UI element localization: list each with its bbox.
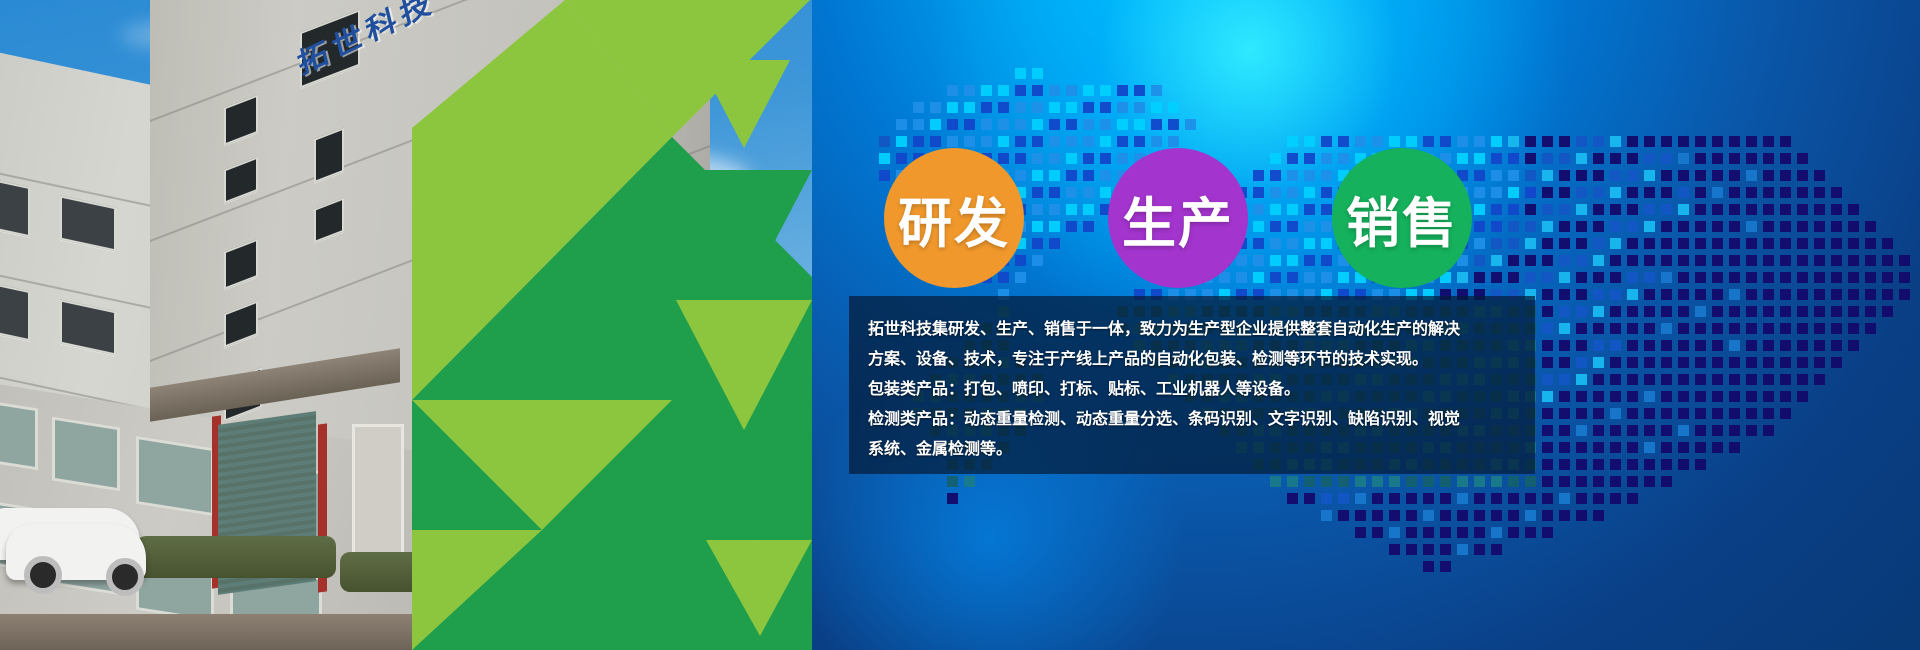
- badge-rd-label: 研发: [898, 179, 1010, 258]
- badge-production: 生产: [1108, 148, 1248, 288]
- description-line: 包装类产品：打包、喷印、打标、贴标、工业机器人等设备。: [868, 374, 1528, 404]
- description-text: 拓世科技集研发、生产、销售于一体，致力为生产型企业提供整套自动化生产的解决 方案…: [868, 314, 1528, 464]
- badge-sales: 销售: [1332, 148, 1472, 288]
- description-line: 系统、金属检测等。: [868, 434, 1528, 464]
- description-line: 方案、设备、技术，专注于产线上产品的自动化包装、检测等环节的技术实现。: [868, 344, 1528, 374]
- badge-rd: 研发: [884, 148, 1024, 288]
- badge-production-label: 生产: [1122, 179, 1234, 258]
- badge-sales-label: 销售: [1346, 179, 1458, 258]
- description-line: 检测类产品：动态重量检测、动态重量分选、条码识别、文字识别、缺陷识别、视觉: [868, 404, 1528, 434]
- company-banner: 拓世科技 研发 生产 销售 拓世科技集研发、生产、销售于一体，致力为生产型企业提…: [0, 0, 1920, 650]
- description-line: 拓世科技集研发、生产、销售于一体，致力为生产型企业提供整套自动化生产的解决: [868, 314, 1528, 344]
